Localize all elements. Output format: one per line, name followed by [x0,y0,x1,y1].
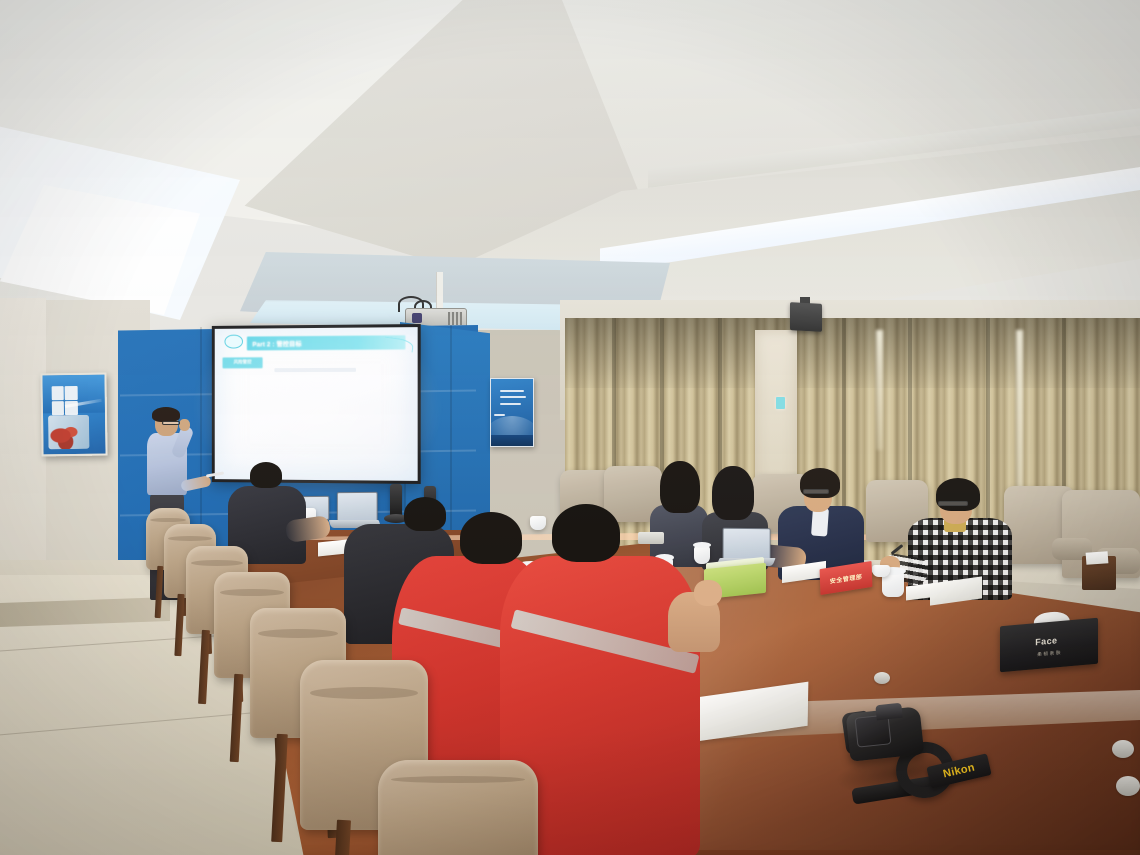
glasses-icon [803,489,829,494]
slide-subtitle-tag: 风险管控 [223,357,263,368]
table-small-object-1[interactable] [874,672,890,684]
poster-right-footer [491,435,533,446]
poster-right-line-1 [500,390,524,392]
poster-left-image [48,414,89,449]
wall-sign-icon [776,397,785,409]
projection-screen-surface: Part 2 : 管控目标 风险管控 [215,327,418,481]
attendee-plaid-head [936,478,980,511]
glasses-icon-2 [938,501,968,506]
worker-red-2-hand [694,580,722,606]
table-small-object-3[interactable] [1116,776,1140,796]
slide-swoosh-decoration [384,336,414,352]
projection-screen[interactable]: Part 2 : 管控目标 风险管控 [212,324,421,484]
poster-right-line-4 [494,414,505,416]
wall-poster-left[interactable] [40,373,107,457]
attendee-dark-suit-head [250,462,282,488]
teacup-2[interactable] [694,546,710,564]
teacup-2-lid [693,542,711,548]
slide-body-placeholder [275,367,356,372]
projector-mount-pole [436,272,443,310]
slide-title-text: Part 2 : 管控目标 [252,339,301,348]
nameplate-text: 安全管理部 [830,571,863,585]
tissue-brand-label: Face [1035,635,1057,647]
laptop-1-screen[interactable] [723,528,771,561]
slide-subtitle-text: 风险管控 [234,360,252,366]
tissue-box-black[interactable]: Face 柔韧亲肤 [1000,618,1098,673]
presenter-hand [179,419,190,431]
teacup-4[interactable] [872,565,890,577]
projector-vent [448,312,462,325]
worker-red-2-head [552,504,620,562]
poster-left-headline [51,386,80,420]
chair-left-7[interactable] [378,760,538,855]
worker-red-1-head [460,512,522,564]
attendee-dark-jacket-head [404,497,446,531]
presenter-head [152,407,180,422]
wall-poster-right[interactable] [490,378,534,447]
conference-microphone-1[interactable] [390,484,402,518]
glasses-icon-3 [162,421,180,425]
teacup-7[interactable] [530,516,546,530]
attendee-woman-2-head [712,466,754,520]
slide-title-bar: Part 2 : 管控目标 [247,336,406,351]
tissue-sub-label: 柔韧亲肤 [1037,649,1062,657]
conference-room-photo: Part 2 : 管控目标 风险管控 [0,0,1140,855]
wall-speaker [790,302,822,332]
camera-brand-label: Nikon [942,762,976,781]
table-small-object-2[interactable] [1112,740,1134,758]
poster-right-line-2 [500,396,526,398]
chair-left-6-leg [335,820,351,855]
side-table-paper [1086,551,1109,565]
slide-logo-icon [225,335,243,349]
document-folder[interactable] [638,532,664,544]
attendee-woman-1-head [660,461,700,513]
poster-right-line-3 [500,403,521,405]
camera-viewfinder-prism [875,703,902,721]
laptop-2-screen[interactable] [337,492,378,522]
curtain-light-gap-2 [876,330,883,450]
projector-lens [412,313,422,323]
curtain-top-shadow [565,318,1140,388]
